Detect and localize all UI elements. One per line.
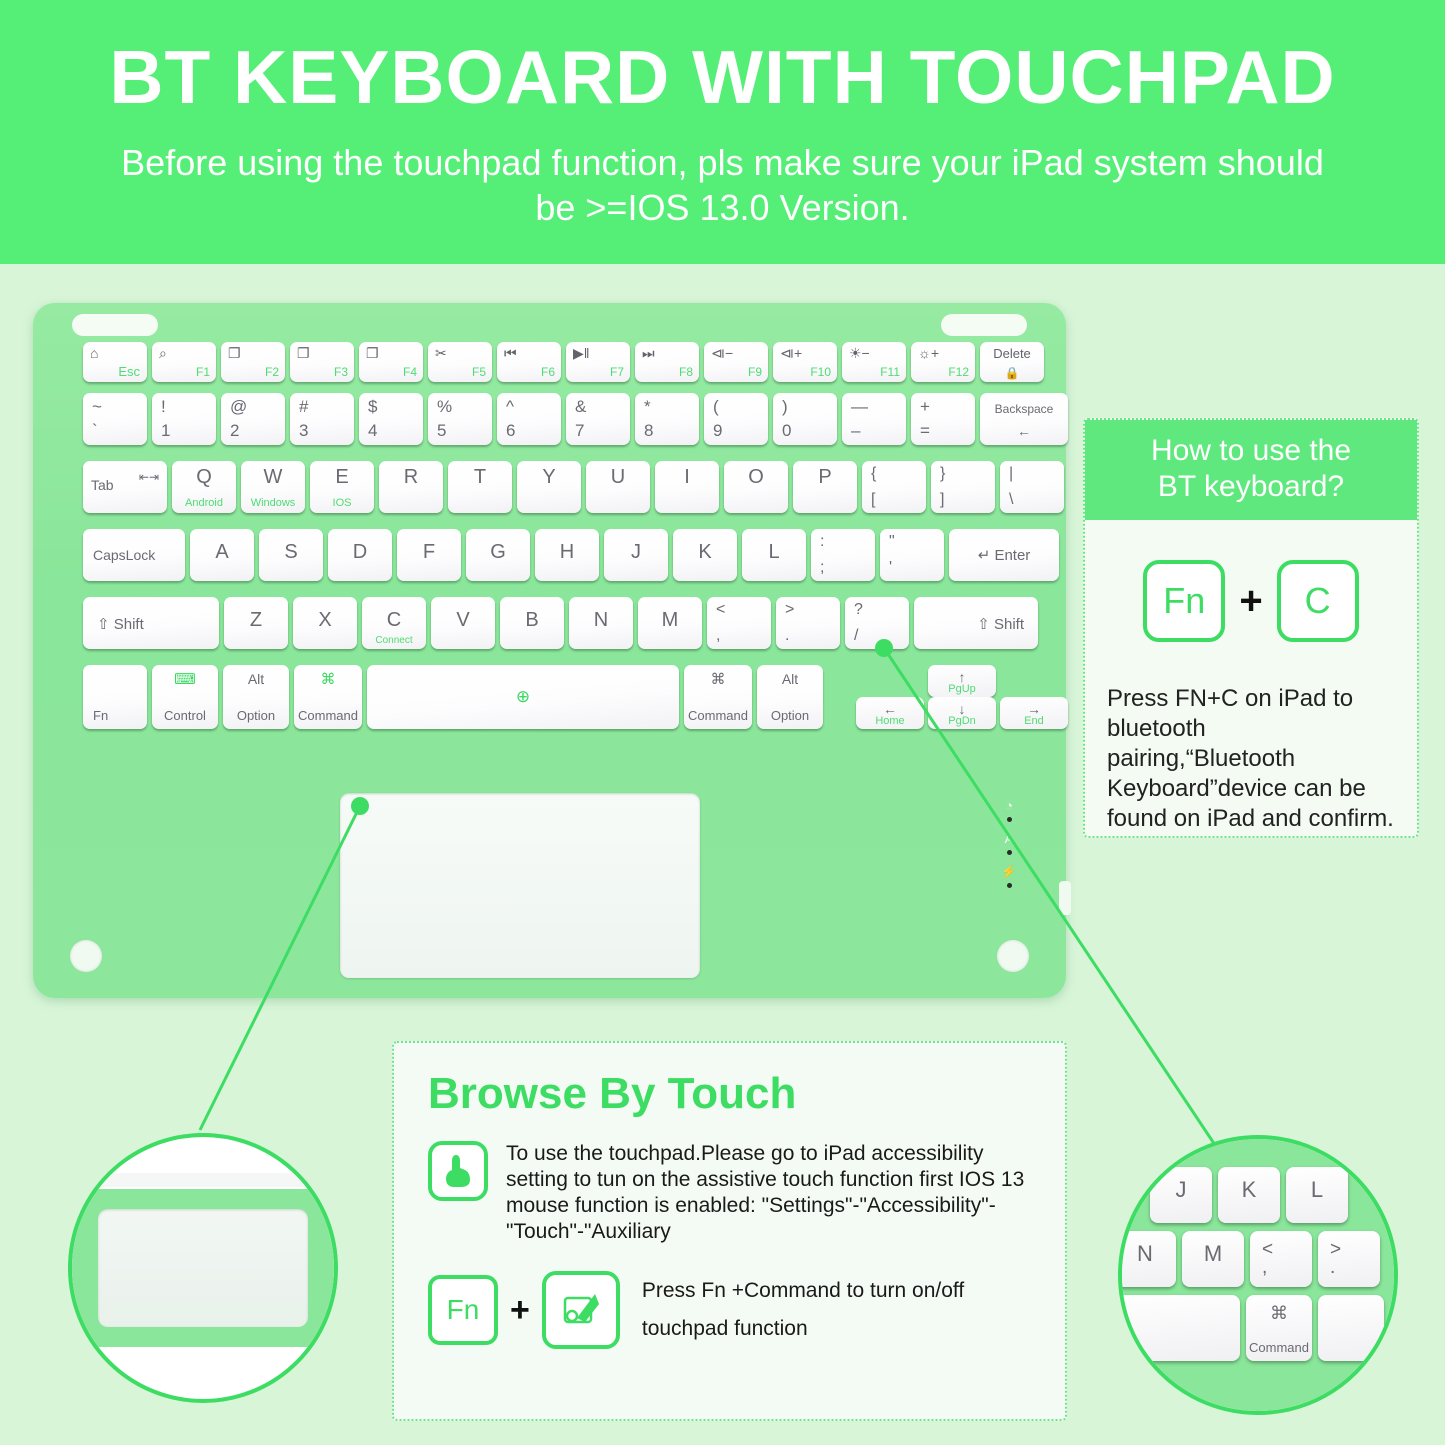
key-f6-label: F6 bbox=[541, 365, 555, 379]
key-f6[interactable]: ⏮ F6 bbox=[497, 342, 561, 382]
capslock-led-icon: A bbox=[992, 831, 1026, 846]
touchpad-zoom-inset bbox=[68, 1133, 338, 1403]
key-f5[interactable]: ✂ F5 bbox=[428, 342, 492, 382]
key-equals[interactable]: + = bbox=[911, 393, 975, 445]
key-d[interactable]: D bbox=[328, 529, 392, 581]
key-j[interactable]: J bbox=[604, 529, 668, 581]
enter-arrow-icon: ↵ bbox=[978, 547, 991, 564]
key-p[interactable]: P bbox=[793, 461, 857, 513]
key-shift-left[interactable]: ⇧ Shift bbox=[83, 597, 219, 649]
key-upper: & bbox=[575, 397, 586, 417]
key-upper: @ bbox=[230, 397, 247, 417]
key-backtick[interactable]: ~ ` bbox=[83, 393, 147, 445]
key-minus[interactable]: — – bbox=[842, 393, 906, 445]
key-cap: F bbox=[397, 541, 461, 564]
browse-panel-title: Browse By Touch bbox=[428, 1069, 1035, 1119]
key-lower: \ bbox=[1009, 491, 1013, 509]
key-cap: S bbox=[259, 541, 323, 564]
key-lower: 0 bbox=[782, 421, 791, 441]
key-cap: D bbox=[328, 541, 392, 564]
key-f12-label: F12 bbox=[948, 365, 969, 379]
key-u[interactable]: U bbox=[586, 461, 650, 513]
key-upper: $ bbox=[368, 397, 377, 417]
key-lower: – bbox=[851, 421, 860, 441]
keyboard-foot-top-right bbox=[941, 314, 1027, 336]
key-option-label: Option bbox=[223, 708, 289, 723]
key-f2-label: F2 bbox=[265, 365, 279, 379]
key-lower: ` bbox=[92, 421, 98, 441]
keyboard-foot-bottom-right bbox=[997, 940, 1029, 972]
globe-icon: ⊕ bbox=[367, 687, 679, 707]
key-cap: J bbox=[1150, 1177, 1212, 1203]
key-alt-label: Alt bbox=[223, 671, 289, 687]
key-lower: / bbox=[854, 627, 858, 645]
key-f1-label: F1 bbox=[196, 365, 210, 379]
key-lower: . bbox=[785, 627, 789, 645]
key-quote[interactable]: " ' bbox=[880, 529, 944, 581]
key-control[interactable]: ⌨ Control bbox=[152, 665, 218, 729]
key-enter-label: ↵ Enter bbox=[949, 546, 1059, 564]
key-lower: [ bbox=[871, 491, 875, 509]
key-cap: T bbox=[448, 466, 512, 489]
arrow-left-icon: ← bbox=[980, 423, 1068, 439]
key-h[interactable]: H bbox=[535, 529, 599, 581]
key-l[interactable]: L bbox=[742, 529, 806, 581]
key-lower: ] bbox=[940, 491, 944, 509]
scissors-icon: ✂ bbox=[435, 345, 447, 361]
keyboard-device: ⌂ Esc ⌕ F1 ❐ F2 ❐ F3 ❐ F4 ✂ F5 ⏮ F6 ▶‖ F bbox=[33, 303, 1066, 998]
key-fn-label: Fn bbox=[93, 708, 108, 723]
key-upper: — bbox=[851, 397, 868, 417]
key-shift-right[interactable]: ⇧ Shift bbox=[914, 597, 1038, 649]
touchpad-cursor-glyph bbox=[559, 1288, 603, 1332]
key-cap: P bbox=[793, 466, 857, 489]
key-e[interactable]: E IOS bbox=[310, 461, 374, 513]
key-4[interactable]: $ 4 bbox=[359, 393, 423, 445]
key-y[interactable]: Y bbox=[517, 461, 581, 513]
key-control-label: Control bbox=[152, 708, 218, 723]
charging-led-dot bbox=[1007, 883, 1012, 888]
key-period[interactable]: > . bbox=[776, 597, 840, 649]
key-lower: 7 bbox=[575, 421, 584, 441]
key-semicolon[interactable]: : ; bbox=[811, 529, 875, 581]
bt-panel-heading-line1: How to use the bbox=[1085, 433, 1417, 469]
key-7[interactable]: & 7 bbox=[566, 393, 630, 445]
shift-arrow-icon: ⇧ bbox=[97, 616, 110, 633]
key-upper: ? bbox=[854, 601, 863, 619]
key-cap: O bbox=[724, 466, 788, 489]
copy-icon: ❐ bbox=[297, 345, 310, 361]
zoom-key-command: ⌘ Command bbox=[1246, 1295, 1312, 1361]
key-cap: V bbox=[431, 609, 495, 632]
key-command-right[interactable]: ⌘ Command bbox=[684, 665, 752, 729]
mouse-pointer-icon: ⌘ bbox=[294, 670, 362, 688]
zoom-key-k: K bbox=[1218, 1167, 1280, 1223]
key-cap: N bbox=[1118, 1241, 1176, 1267]
zoom-key-m: M bbox=[1182, 1231, 1244, 1287]
key-shift-right-label: ⇧ Shift bbox=[977, 615, 1024, 633]
key-cap: B bbox=[500, 609, 564, 632]
key-a[interactable]: A bbox=[190, 529, 254, 581]
browse-key-fn: Fn bbox=[428, 1275, 498, 1345]
search-icon: ⌕ bbox=[159, 345, 167, 361]
previous-track-icon: ⏮ bbox=[504, 345, 517, 361]
key-0[interactable]: ) 0 bbox=[773, 393, 837, 445]
brightness-down-icon: ☀− bbox=[849, 345, 870, 361]
key-tab[interactable]: Tab ⇤⇥ bbox=[83, 461, 167, 513]
key-cap: Z bbox=[224, 609, 288, 632]
keyboard-function-row: ⌂ Esc ⌕ F1 ❐ F2 ❐ F3 ❐ F4 ✂ F5 ⏮ F6 ▶‖ F bbox=[83, 342, 1044, 382]
key-command-right-label: Command bbox=[684, 708, 752, 723]
key-lower: 6 bbox=[506, 421, 515, 441]
volume-down-icon: ⧏− bbox=[711, 345, 733, 361]
zoom-key-comma: < , bbox=[1250, 1231, 1312, 1287]
key-upper: + bbox=[920, 397, 930, 417]
key-i[interactable]: I bbox=[655, 461, 719, 513]
key-f4[interactable]: ❐ F4 bbox=[359, 342, 423, 382]
key-esc-label: Esc bbox=[118, 364, 140, 379]
key-cap: W bbox=[241, 466, 305, 489]
key-cap: L bbox=[1286, 1177, 1348, 1203]
combo-key-fn: Fn bbox=[1143, 560, 1225, 642]
key-arrow-right[interactable]: → End bbox=[1000, 697, 1068, 729]
shift-arrow-icon: ⇧ bbox=[977, 616, 990, 633]
key-capslock[interactable]: CapsLock bbox=[83, 529, 185, 581]
paste-icon: ❐ bbox=[366, 345, 379, 361]
key-f11[interactable]: ☀− F11 bbox=[842, 342, 906, 382]
zoom-key-l: L bbox=[1286, 1167, 1348, 1223]
key-t[interactable]: T bbox=[448, 461, 512, 513]
key-cap: L bbox=[742, 541, 806, 564]
key-cap: U bbox=[586, 466, 650, 489]
browse-plus-sign: + bbox=[510, 1291, 530, 1330]
key-sublabel: Android bbox=[172, 497, 236, 509]
key-shift-left-label: ⇧ Shift bbox=[97, 615, 144, 633]
key-capslock-label: CapsLock bbox=[93, 547, 155, 563]
page-header: BT KEYBOARD WITH TOUCHPAD Before using t… bbox=[0, 0, 1445, 264]
key-upper: * bbox=[644, 397, 651, 417]
key-alt-option-right[interactable]: Alt Option bbox=[757, 665, 823, 729]
key-cap: X bbox=[293, 609, 357, 632]
key-tab-label: Tab bbox=[91, 477, 114, 493]
status-led-group: ◔ A ⚡ bbox=[992, 798, 1026, 897]
volume-up-icon: ⧏+ bbox=[780, 345, 802, 361]
finger-touch-icon bbox=[428, 1141, 488, 1201]
finger-touch-glyph bbox=[443, 1153, 473, 1189]
keyboard-number-row: ~ ` ! 1 @ 2 # 3 $ 4 % 5 ^ 6 & 7 * 8 ( 9 bbox=[83, 393, 1068, 445]
command-symbol-icon: ⌘ bbox=[684, 670, 752, 688]
key-comma[interactable]: < , bbox=[707, 597, 771, 649]
key-delete[interactable]: Delete 🔒 bbox=[980, 342, 1044, 382]
key-upper: : bbox=[820, 533, 824, 551]
key-f10[interactable]: ⧏+ F10 bbox=[773, 342, 837, 382]
bt-key-combo: Fn + C bbox=[1085, 560, 1417, 642]
key-r[interactable]: R bbox=[379, 461, 443, 513]
key-f9-label: F9 bbox=[748, 365, 762, 379]
key-b[interactable]: B bbox=[500, 597, 564, 649]
key-option-label: Option bbox=[757, 708, 823, 723]
zoom-touchpad-surface bbox=[98, 1209, 308, 1327]
key-upper: | bbox=[1009, 465, 1013, 483]
side-port bbox=[1059, 881, 1071, 915]
key-upper: # bbox=[299, 397, 308, 417]
key-w[interactable]: W Windows bbox=[241, 461, 305, 513]
key-arrow-up[interactable]: ↑ PgUp bbox=[928, 665, 996, 697]
key-delete-label: Delete bbox=[980, 346, 1044, 361]
bt-panel-heading-line2: BT keyboard? bbox=[1085, 469, 1417, 505]
key-cap: N bbox=[569, 609, 633, 632]
key-cap: E bbox=[310, 466, 374, 489]
keyboard-foot-bottom-left bbox=[70, 940, 102, 972]
key-cap: M bbox=[638, 609, 702, 632]
combo-key-c: C bbox=[1277, 560, 1359, 642]
key-cap: Q bbox=[172, 466, 236, 489]
capslock-led-dot bbox=[1007, 850, 1012, 855]
key-upper: ( bbox=[713, 397, 719, 417]
bt-panel-body-text: Press FN+C on iPad to bluetooth pairing,… bbox=[1107, 684, 1395, 834]
key-s[interactable]: S bbox=[259, 529, 323, 581]
key-z[interactable]: Z bbox=[224, 597, 288, 649]
page-title: BT KEYBOARD WITH TOUCHPAD bbox=[0, 36, 1445, 118]
key-v[interactable]: V bbox=[431, 597, 495, 649]
key-cap: K bbox=[673, 541, 737, 564]
key-cap: M bbox=[1182, 1241, 1244, 1267]
key-bracket-right[interactable]: } ] bbox=[931, 461, 995, 513]
key-lower: 2 bbox=[230, 421, 239, 441]
browse-item-1-text: To use the touchpad.Please go to iPad ac… bbox=[506, 1141, 1035, 1245]
key-f[interactable]: F bbox=[397, 529, 461, 581]
key-5[interactable]: % 5 bbox=[428, 393, 492, 445]
key-f10-label: F10 bbox=[810, 365, 831, 379]
key-m[interactable]: M bbox=[638, 597, 702, 649]
key-sublabel-connect: Connect bbox=[362, 635, 426, 646]
zoom-key-edge bbox=[96, 1173, 310, 1187]
touchpad[interactable] bbox=[340, 793, 700, 978]
key-upper: < bbox=[716, 601, 725, 619]
next-track-icon: ⏭ bbox=[642, 345, 655, 361]
screenshot-icon: ❐ bbox=[228, 345, 241, 361]
browse-by-touch-panel: Browse By Touch To use the touchpad.Plea… bbox=[392, 1041, 1067, 1421]
key-esc[interactable]: ⌂ Esc bbox=[83, 342, 147, 382]
zoom-key-n: N bbox=[1118, 1231, 1176, 1287]
keys-zoom-inset: J K L N M < , > . ⌘ Command bbox=[1118, 1135, 1398, 1415]
key-x[interactable]: X bbox=[293, 597, 357, 649]
key-bracket-left[interactable]: { [ bbox=[862, 461, 926, 513]
key-f4-label: F4 bbox=[403, 365, 417, 379]
keyboard-backlight-icon: ⌨ bbox=[152, 670, 218, 688]
key-sublabel: IOS bbox=[310, 497, 374, 509]
key-backspace[interactable]: Backspace ← bbox=[980, 393, 1068, 445]
key-backslash[interactable]: | \ bbox=[1000, 461, 1064, 513]
keyboard-bottom-row: Fn ⌨ Control Alt Option ⌘ Command ⊕ ⌘ Co… bbox=[83, 665, 823, 729]
key-arrow-down[interactable]: ↓ PgDn bbox=[928, 697, 996, 729]
key-cap: H bbox=[535, 541, 599, 564]
key-fn[interactable]: Fn bbox=[83, 665, 147, 729]
key-upper: ! bbox=[161, 397, 166, 417]
key-lower: , bbox=[1262, 1257, 1267, 1279]
key-6[interactable]: ^ 6 bbox=[497, 393, 561, 445]
key-command-left[interactable]: ⌘ Command bbox=[294, 665, 362, 729]
key-f7[interactable]: ▶‖ F7 bbox=[566, 342, 630, 382]
zoom-key-space bbox=[1118, 1295, 1240, 1361]
touchpad-toggle-icon bbox=[542, 1271, 620, 1349]
key-enter[interactable]: ↵ Enter bbox=[949, 529, 1059, 581]
key-cap: A bbox=[190, 541, 254, 564]
key-lower: 4 bbox=[368, 421, 377, 441]
key-f8[interactable]: ⏭ F8 bbox=[635, 342, 699, 382]
key-f5-label: F5 bbox=[472, 365, 486, 379]
key-cap: C bbox=[362, 609, 426, 632]
key-lower: ; bbox=[820, 559, 824, 577]
key-c[interactable]: C Connect bbox=[362, 597, 426, 649]
command-symbol-icon: ⌘ bbox=[1246, 1303, 1312, 1324]
keyboard-qwerty-row: Tab ⇤⇥ Q Android W Windows E IOS R T Y U… bbox=[83, 461, 1064, 513]
key-lower: 8 bbox=[644, 421, 653, 441]
key-backspace-label: Backspace bbox=[980, 402, 1068, 416]
zoom-key-j: J bbox=[1150, 1167, 1212, 1223]
bt-pairing-panel: How to use the BT keyboard? Fn + C Press… bbox=[1083, 418, 1419, 838]
key-f12[interactable]: ☼+ F12 bbox=[911, 342, 975, 382]
browse-item-1: To use the touchpad.Please go to iPad ac… bbox=[428, 1141, 1035, 1245]
home-icon: ⌂ bbox=[90, 345, 98, 361]
key-upper: > bbox=[785, 601, 794, 619]
key-lower: = bbox=[920, 421, 930, 441]
key-lower: 9 bbox=[713, 421, 722, 441]
brightness-up-icon: ☼+ bbox=[918, 345, 939, 361]
key-upper: { bbox=[871, 465, 876, 483]
key-cap: R bbox=[379, 466, 443, 489]
zoom-key-period: > . bbox=[1318, 1231, 1380, 1287]
key-f9[interactable]: ⧏− F9 bbox=[704, 342, 768, 382]
key-q[interactable]: Q Android bbox=[172, 461, 236, 513]
key-alt-option-left[interactable]: Alt Option bbox=[223, 665, 289, 729]
key-lower: , bbox=[716, 627, 720, 645]
key-f2[interactable]: ❐ F2 bbox=[221, 342, 285, 382]
key-cap: J bbox=[604, 541, 668, 564]
key-pgup-label: PgUp bbox=[928, 683, 996, 695]
key-n[interactable]: N bbox=[569, 597, 633, 649]
keyboard-foot-top-left bbox=[72, 314, 158, 336]
zoom-key-option bbox=[1318, 1295, 1384, 1361]
key-end-label: End bbox=[1000, 715, 1068, 727]
key-f3[interactable]: ❐ F3 bbox=[290, 342, 354, 382]
key-f3-label: F3 bbox=[334, 365, 348, 379]
bluetooth-led-dot bbox=[1007, 817, 1012, 822]
key-9[interactable]: ( 9 bbox=[704, 393, 768, 445]
key-lower: 3 bbox=[299, 421, 308, 441]
key-2[interactable]: @ 2 bbox=[221, 393, 285, 445]
key-lower: ' bbox=[889, 559, 892, 577]
key-3[interactable]: # 3 bbox=[290, 393, 354, 445]
key-cap: G bbox=[466, 541, 530, 564]
key-f8-label: F8 bbox=[679, 365, 693, 379]
key-1[interactable]: ! 1 bbox=[152, 393, 216, 445]
key-upper: ^ bbox=[506, 397, 514, 417]
keyboard-shift-row: ⇧ Shift Z X C Connect V B N M < , > . ? … bbox=[83, 597, 1038, 649]
page-subtitle: Before using the touchpad function, pls … bbox=[0, 140, 1445, 230]
key-lower: . bbox=[1330, 1257, 1335, 1279]
key-upper: % bbox=[437, 397, 452, 417]
key-upper: ) bbox=[782, 397, 788, 417]
keyboard-home-row: CapsLock A S D F G H J K L : ; " ' ↵ Ent… bbox=[83, 529, 1059, 581]
key-o[interactable]: O bbox=[724, 461, 788, 513]
tab-arrows-icon: ⇤⇥ bbox=[139, 471, 159, 484]
key-lower: 5 bbox=[437, 421, 446, 441]
key-lower: 1 bbox=[161, 421, 170, 441]
key-cap: Y bbox=[517, 466, 581, 489]
key-f1[interactable]: ⌕ F1 bbox=[152, 342, 216, 382]
charging-led-icon: ⚡ bbox=[992, 864, 1026, 879]
key-alt-label: Alt bbox=[757, 671, 823, 687]
lock-icon: 🔒 bbox=[980, 366, 1044, 380]
key-f7-label: F7 bbox=[610, 365, 624, 379]
key-g[interactable]: G bbox=[466, 529, 530, 581]
key-upper: " bbox=[889, 533, 895, 551]
combo-plus-sign: + bbox=[1239, 579, 1262, 624]
key-home-label: Home bbox=[856, 715, 924, 727]
key-command-label: Command bbox=[1246, 1340, 1312, 1355]
browse-item-2-text: Press Fn +Command to turn on/off touchpa… bbox=[642, 1272, 1035, 1348]
browse-item-2: Fn + Press Fn +Command to turn on/off to… bbox=[428, 1271, 1035, 1349]
key-f11-label: F11 bbox=[880, 365, 900, 379]
key-sublabel: Windows bbox=[241, 497, 305, 509]
key-8[interactable]: * 8 bbox=[635, 393, 699, 445]
play-pause-icon: ▶‖ bbox=[573, 345, 590, 361]
key-arrow-left[interactable]: ← Home bbox=[856, 697, 924, 729]
key-command-left-label: Command bbox=[294, 708, 362, 723]
bluetooth-signal-led-icon: ◔ bbox=[992, 798, 1026, 813]
key-upper: } bbox=[940, 465, 945, 483]
key-cap: K bbox=[1218, 1177, 1280, 1203]
bt-panel-heading: How to use the BT keyboard? bbox=[1085, 420, 1417, 520]
key-space[interactable]: ⊕ bbox=[367, 665, 679, 729]
key-k[interactable]: K bbox=[673, 529, 737, 581]
key-cap: I bbox=[655, 466, 719, 489]
key-pgdn-label: PgDn bbox=[928, 715, 996, 727]
key-slash[interactable]: ? / bbox=[845, 597, 909, 649]
key-upper: ~ bbox=[92, 397, 102, 417]
